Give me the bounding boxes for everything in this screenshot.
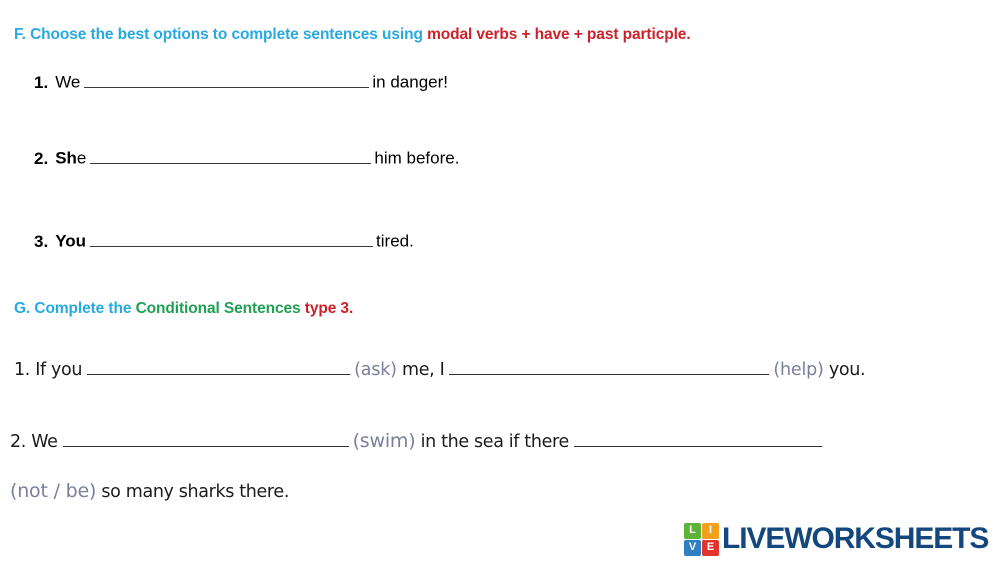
answer-blank[interactable] — [449, 358, 769, 375]
item-bold-lead: You — [55, 232, 86, 251]
verb-hint-ask: (ask) — [354, 360, 397, 380]
section-g-heading: G. Complete the Conditional Sentences ty… — [14, 300, 353, 318]
exercise-g-item-2-continuation: (not / be) so many sharks there. — [10, 480, 289, 503]
item-text-c: so many sharks there. — [101, 482, 289, 502]
section-f-heading-period: . — [686, 26, 690, 43]
answer-blank[interactable] — [90, 230, 373, 247]
section-f-heading-blue-text: F. Choose the best options to complete s… — [14, 26, 427, 43]
logo-tile-l: L — [684, 523, 701, 539]
item-tail-text: him before. — [374, 149, 459, 168]
answer-blank[interactable] — [63, 430, 349, 447]
logo-tile-i: I — [702, 523, 719, 539]
answer-blank[interactable] — [87, 358, 350, 375]
item-bold-lead: Sh — [55, 149, 77, 168]
logo-tile-e: E — [702, 540, 719, 556]
verb-hint-help: (help) — [773, 360, 823, 380]
section-f-heading-red-text: modal verbs + have + past particple — [427, 26, 686, 43]
logo-tile-v: V — [684, 540, 701, 556]
exercise-f-item-1: 1.Wein danger! — [34, 71, 448, 93]
item-number: 1. — [34, 73, 48, 92]
item-number: 2. — [10, 432, 26, 452]
item-tail-text: tired. — [376, 232, 414, 251]
logo-wordmark: LIVEWORKSHEETS — [722, 524, 988, 554]
section-g-heading-blue-text: G. Complete the — [14, 300, 136, 317]
item-plain-lead: We — [55, 73, 80, 92]
item-plain-lead: e — [77, 149, 86, 168]
item-text-a: We — [31, 432, 57, 452]
item-number: 1. — [14, 360, 30, 380]
verb-hint-swim: (swim) — [353, 430, 416, 452]
exercise-f-item-3: 3.Youtired. — [34, 230, 414, 252]
item-number: 3. — [34, 232, 48, 251]
answer-blank[interactable] — [574, 430, 822, 447]
item-text-b: me, I — [402, 360, 444, 380]
item-tail-text: in danger! — [372, 73, 448, 92]
verb-hint-not-be: (not / be) — [10, 480, 96, 502]
section-g-heading-green-text: Conditional Sentences — [136, 300, 301, 317]
exercise-f-item-2: 2.Shehim before. — [34, 147, 459, 169]
item-text-b: in the sea if there — [421, 432, 569, 452]
exercise-g-item-1: 1. If you(ask) me, I(help) you. — [14, 358, 865, 381]
answer-blank[interactable] — [90, 147, 371, 164]
liveworksheets-logo[interactable]: L I V E LIVEWORKSHEETS — [684, 520, 988, 558]
item-text-c: you. — [829, 360, 865, 380]
item-number: 2. — [34, 149, 48, 168]
section-g-heading-red-text: type 3 — [301, 300, 349, 317]
logo-tiles: L I V E — [684, 523, 719, 556]
item-text-a: If you — [35, 360, 82, 380]
answer-blank[interactable] — [84, 71, 369, 88]
worksheet-page: F. Choose the best options to complete s… — [0, 0, 999, 562]
exercise-g-item-2: 2. We(swim) in the sea if there — [10, 430, 826, 453]
section-f-heading: F. Choose the best options to complete s… — [14, 26, 691, 44]
section-g-heading-period: . — [349, 300, 353, 317]
